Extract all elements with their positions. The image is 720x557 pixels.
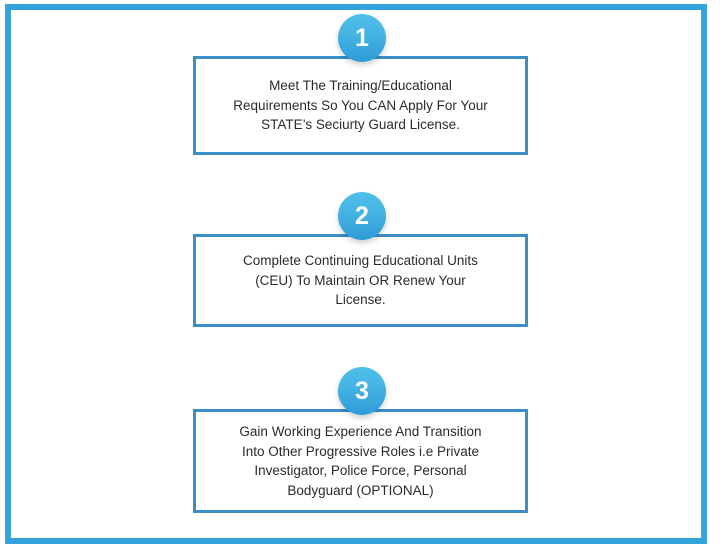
step-card-3-text: Gain Working Experience And Transition I… <box>208 422 513 500</box>
step-item-3: 3 Gain Working Experience And Transition… <box>0 367 720 409</box>
steps-infographic: 1 Meet The Training/Educational Requirem… <box>0 0 720 557</box>
step-card-1-text: Meet The Training/Educational Requiremen… <box>208 76 513 135</box>
step-2-badge-row: 2 <box>0 192 720 240</box>
step-card-2-text: Complete Continuing Educational Units (C… <box>208 251 513 310</box>
step-number-badge-2: 2 <box>338 192 386 240</box>
step-number-badge-3: 3 <box>338 367 386 415</box>
step-3-badge-row: 3 <box>0 367 720 415</box>
steps-list: 1 Meet The Training/Educational Requirem… <box>0 0 720 557</box>
step-item-2: 2 Complete Continuing Educational Units … <box>0 192 720 234</box>
step-1-badge-row: 1 <box>0 14 720 62</box>
step-card-2: Complete Continuing Educational Units (C… <box>193 234 528 327</box>
step-card-3: Gain Working Experience And Transition I… <box>193 409 528 513</box>
step-item-1: 1 Meet The Training/Educational Requirem… <box>0 14 720 56</box>
step-card-1: Meet The Training/Educational Requiremen… <box>193 56 528 155</box>
step-number-badge-1: 1 <box>338 14 386 62</box>
